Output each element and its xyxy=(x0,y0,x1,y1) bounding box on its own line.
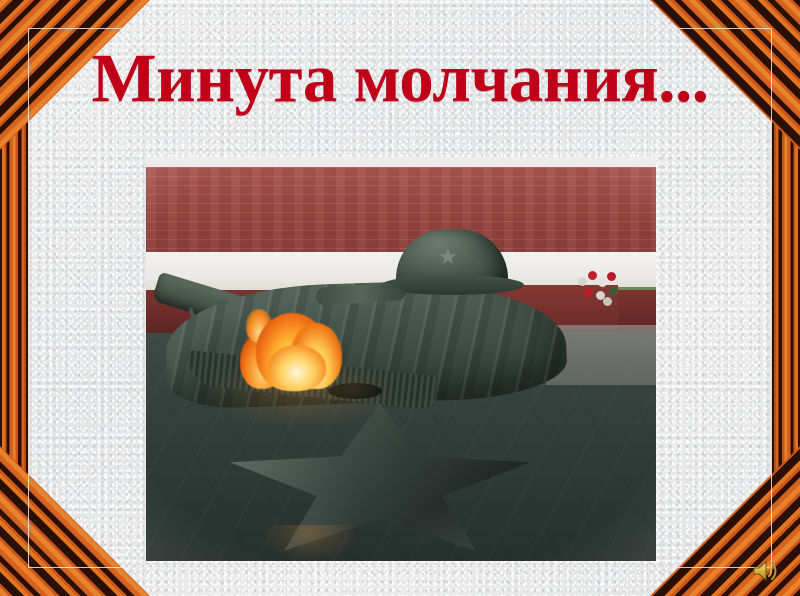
speaker-icon[interactable] xyxy=(752,560,778,582)
memorial-flowers xyxy=(576,269,622,305)
page-title: Минута молчания... xyxy=(0,44,800,113)
flame-reflection xyxy=(266,525,356,561)
photo-content: ★ xyxy=(146,157,656,561)
helmet-star-icon: ★ xyxy=(436,245,460,269)
presentation-slide: ★ Минута молчания... xyxy=(0,0,800,596)
flame-core xyxy=(268,345,326,391)
eternal-flame xyxy=(238,309,358,401)
kremlin-wall-brick xyxy=(146,167,656,252)
tomb-of-the-unknown-soldier-photo[interactable]: ★ xyxy=(146,157,656,561)
